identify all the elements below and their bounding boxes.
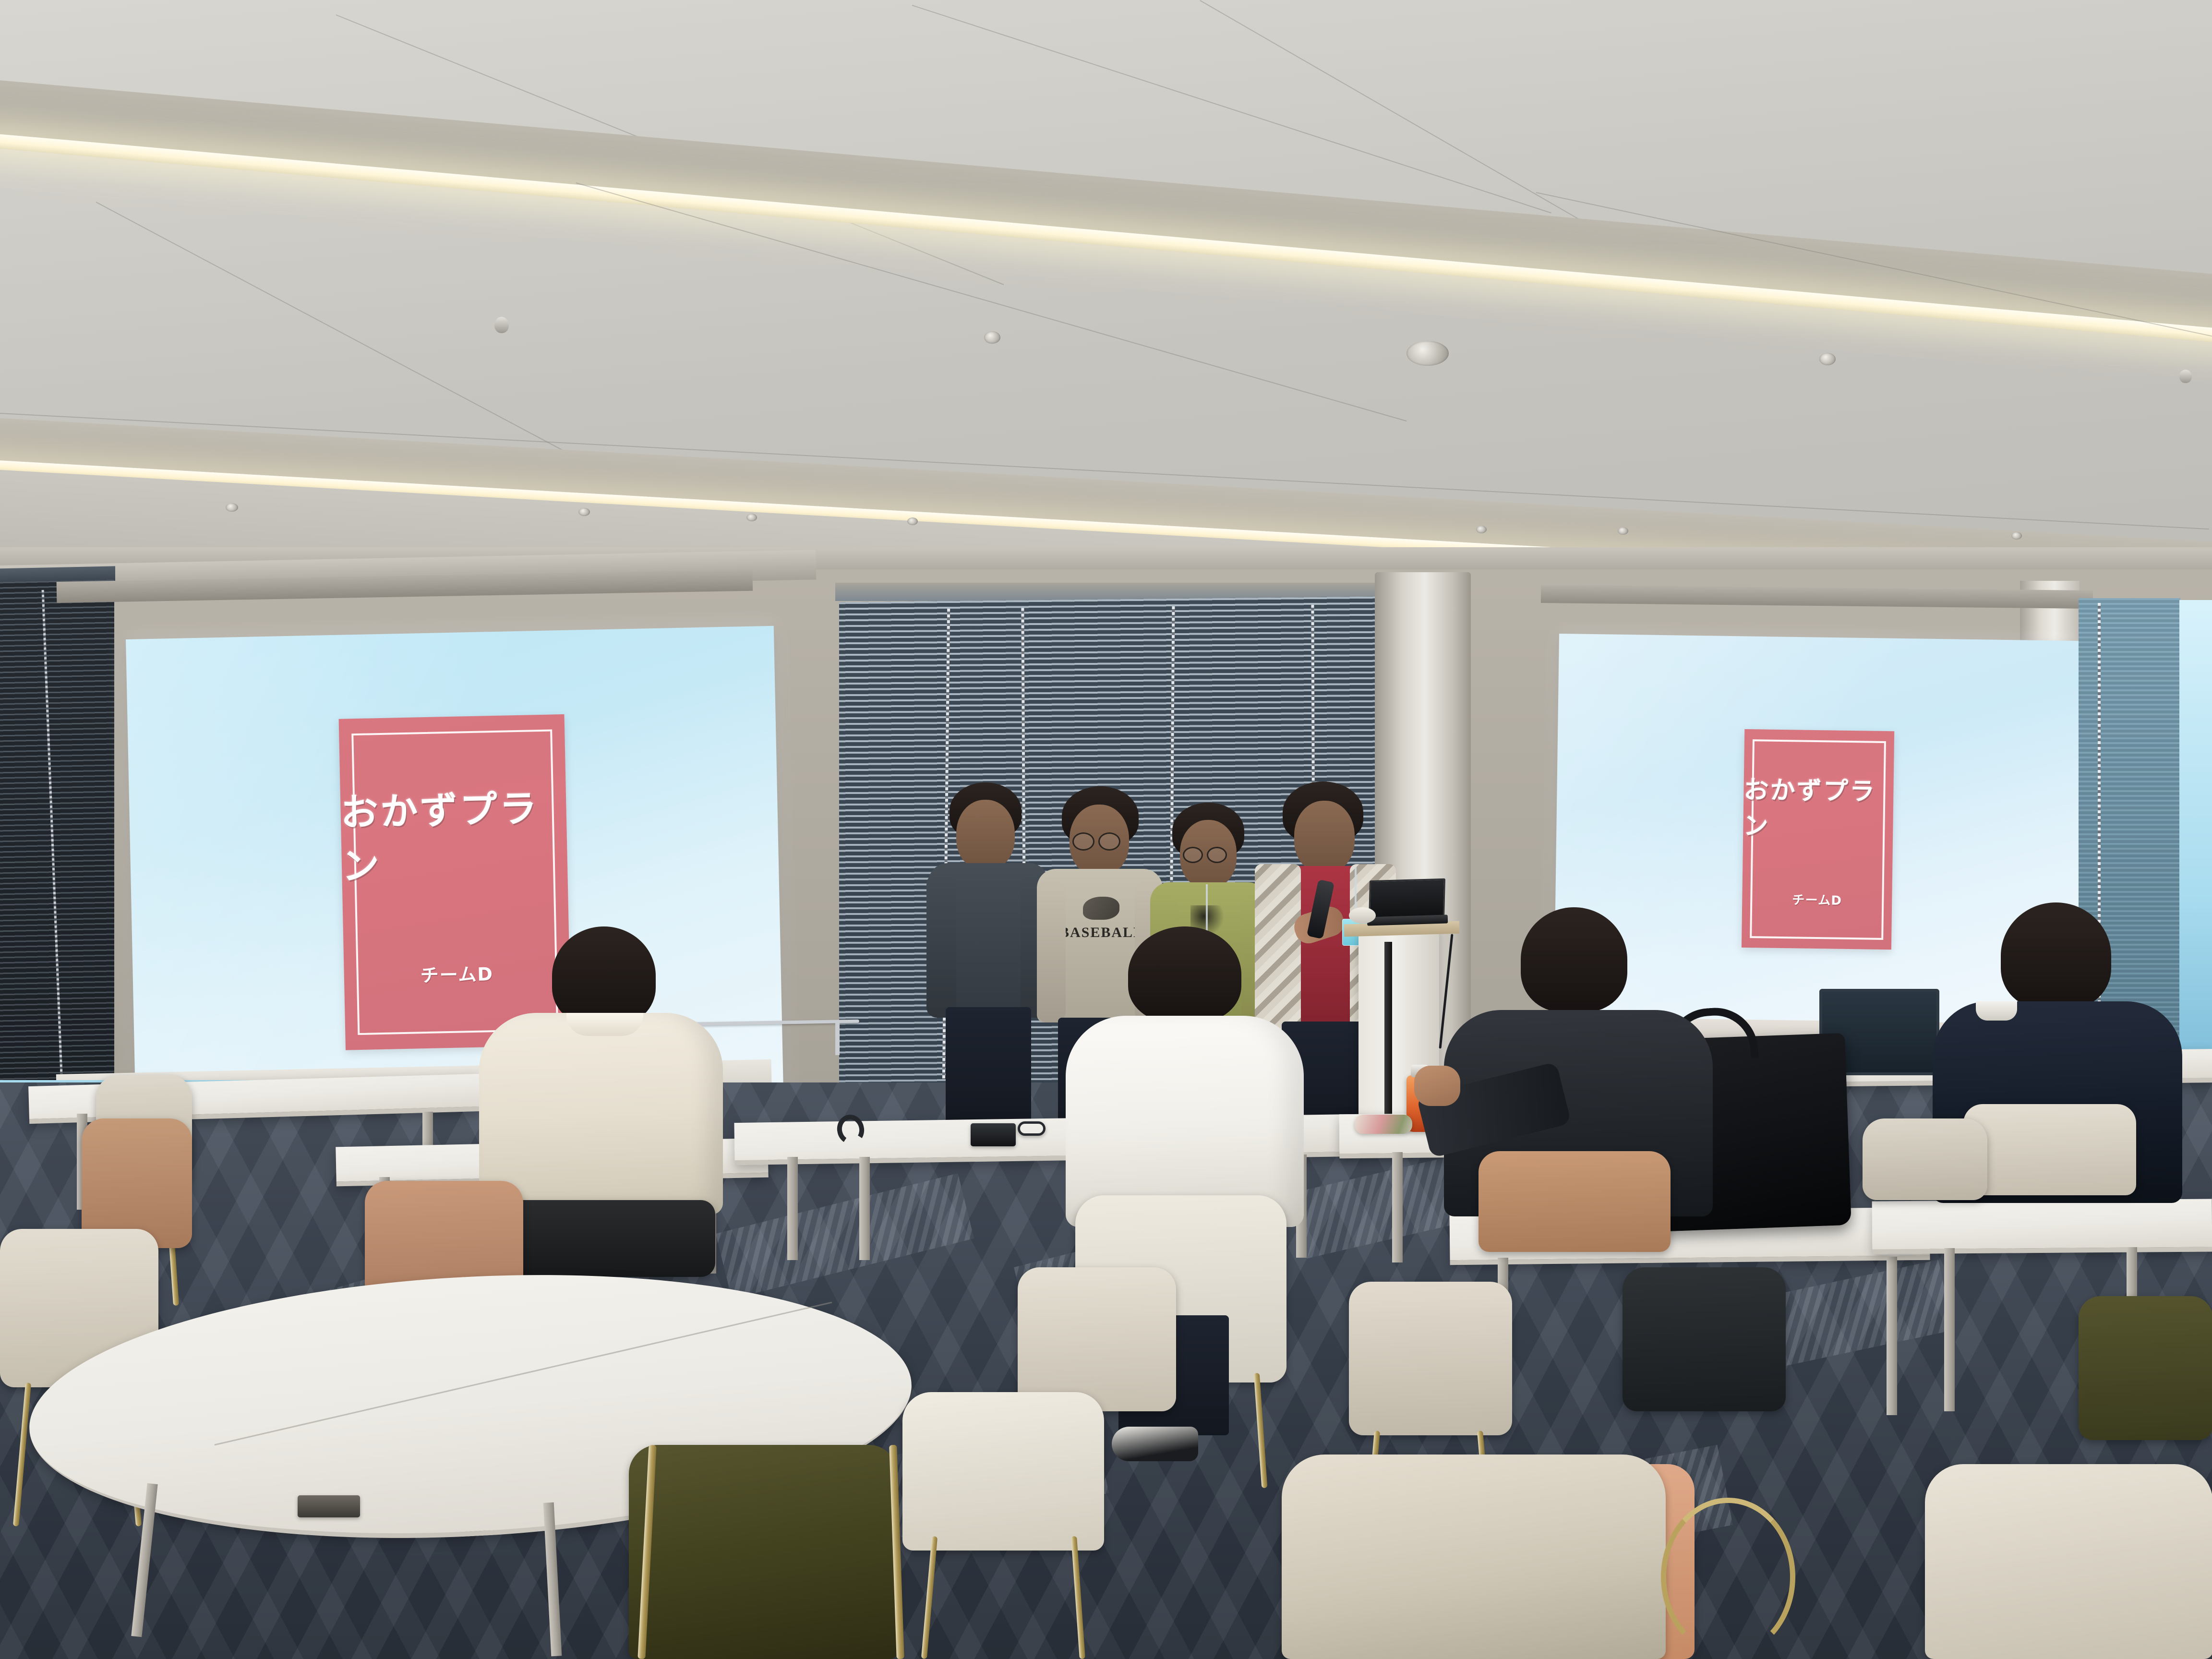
table-leg (787, 1157, 798, 1260)
hair (1128, 926, 1241, 1022)
audience-left-shirt (479, 1013, 723, 1214)
black-cable-loop (1018, 1121, 1046, 1136)
chair-frame-hoop (1661, 1498, 1795, 1656)
chair-foreground-cream[interactable] (902, 1392, 1104, 1551)
downlight-icon (1618, 527, 1628, 535)
downlight-icon (578, 508, 590, 516)
glasses-icon (1072, 832, 1094, 851)
downlight-icon (907, 517, 918, 525)
presenter-1 (926, 782, 1051, 1133)
table-leg (859, 1157, 870, 1260)
sprinkler-head-icon (494, 317, 509, 333)
hair (2001, 902, 2111, 1009)
slide-card: おかずプラン チームD (1742, 729, 1894, 950)
chair-near-center-table[interactable] (1018, 1267, 1176, 1411)
chair-foreground-olive[interactable] (629, 1445, 898, 1659)
chair-right-far-rear[interactable] (1863, 1118, 1987, 1200)
table-leg (1392, 1152, 1403, 1262)
chair-foreground-far-right[interactable] (1925, 1464, 2212, 1659)
chair-audience-right[interactable] (1479, 1151, 1671, 1252)
shirt-collar (566, 1013, 643, 1036)
head (1294, 801, 1355, 873)
downlight-icon (226, 503, 238, 512)
glasses-icon (1183, 847, 1203, 863)
hair (1521, 907, 1627, 1012)
downlight-icon (746, 514, 757, 521)
table-leg (1944, 1248, 1955, 1411)
collar-icon (1976, 1001, 2017, 1021)
chair-center-aisle[interactable] (1349, 1282, 1512, 1435)
snack-package[interactable] (1355, 1115, 1412, 1134)
sprinkler-head-icon (2179, 370, 2192, 383)
floor-power-module (298, 1495, 360, 1517)
small-cup-on-lectern (1349, 907, 1376, 924)
window-railing-post (835, 1022, 840, 1055)
legs (946, 1007, 1031, 1133)
chair-foreground-bottom-right[interactable] (1282, 1455, 1666, 1659)
table-leg (1887, 1257, 1897, 1415)
shirt-eagle-logo-icon (1083, 897, 1119, 920)
glasses-icon (1207, 847, 1227, 863)
chair-right-rear[interactable] (1623, 1267, 1786, 1411)
ceiling (0, 0, 2212, 566)
smoke-detector-icon (1407, 341, 1449, 366)
lectern-front-groove (1384, 942, 1392, 1134)
hair (552, 926, 656, 1025)
arm-left (926, 874, 956, 1018)
slide-title: おかずプラン (1743, 769, 1894, 843)
downlight-icon (1476, 526, 1487, 533)
black-device-box[interactable] (971, 1123, 1016, 1146)
glasses-icon (1098, 832, 1120, 851)
downlight-icon (2011, 532, 2022, 540)
laptop-screen[interactable] (1369, 878, 1445, 920)
conference-room-photo: おかずプラン チームD おかずプラン チームD (0, 0, 2212, 1659)
recessed-light-icon (984, 331, 1000, 344)
chair-audience-far-right[interactable] (1963, 1104, 2136, 1195)
head (956, 800, 1015, 870)
recessed-light-icon (1819, 353, 1836, 365)
hand-icon (1414, 1066, 1460, 1106)
blinds-left[interactable] (0, 579, 114, 1090)
slide-team-label: チームD (1792, 890, 1842, 909)
slide-title: おかずプラン (340, 778, 568, 890)
blind-pull-chain-icon[interactable] (42, 590, 63, 1074)
chair-right-olive-far[interactable] (2079, 1296, 2212, 1440)
shoe-icon (1112, 1427, 1198, 1461)
